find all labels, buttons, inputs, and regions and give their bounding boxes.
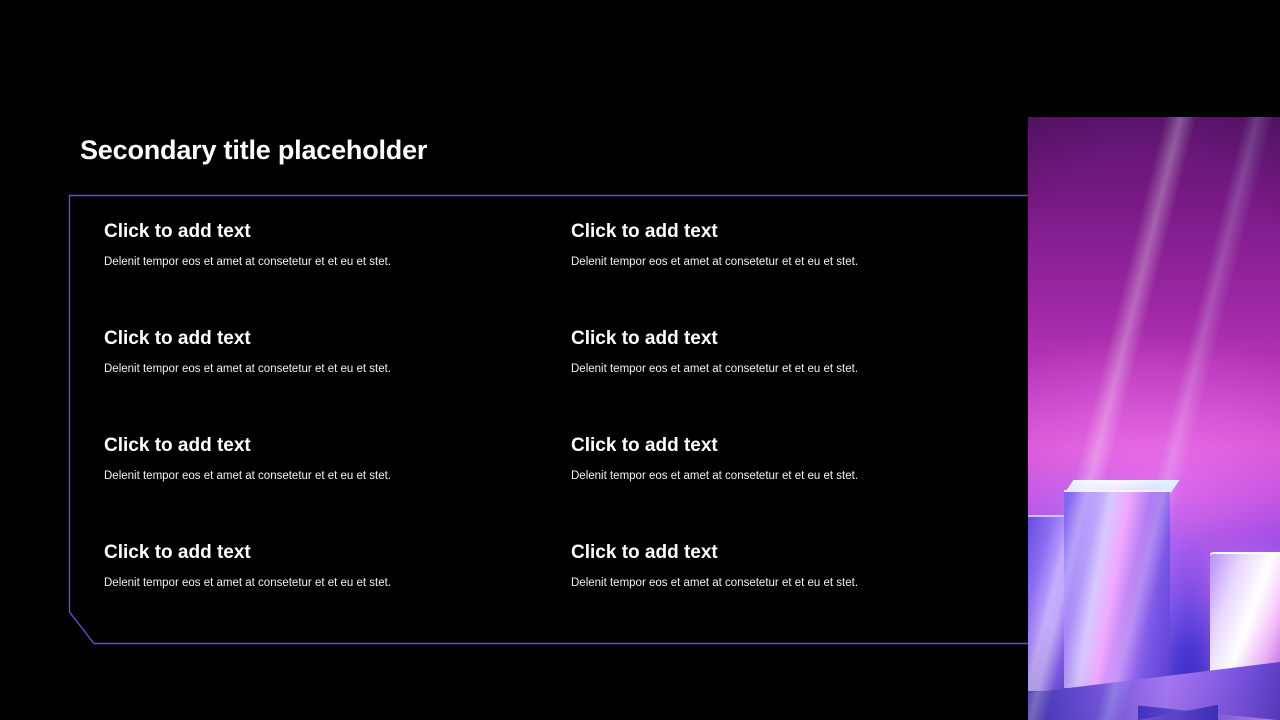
content-cell[interactable]: Click to add text Delenit tempor eos et … — [104, 542, 571, 591]
content-cell[interactable]: Click to add text Delenit tempor eos et … — [104, 221, 571, 328]
page-title: Secondary title placeholder — [80, 136, 427, 166]
cell-heading[interactable]: Click to add text — [571, 221, 934, 243]
content-cell[interactable]: Click to add text Delenit tempor eos et … — [571, 435, 934, 542]
cell-heading[interactable]: Click to add text — [104, 221, 571, 243]
content-cell[interactable]: Click to add text Delenit tempor eos et … — [104, 435, 571, 542]
cell-heading[interactable]: Click to add text — [571, 435, 934, 457]
content-cell[interactable]: Click to add text Delenit tempor eos et … — [571, 221, 934, 328]
content-cell[interactable]: Click to add text Delenit tempor eos et … — [571, 542, 934, 591]
decorative-image-panel — [1028, 117, 1280, 720]
cell-heading[interactable]: Click to add text — [104, 435, 571, 457]
content-cell[interactable]: Click to add text Delenit tempor eos et … — [571, 328, 934, 435]
cell-body[interactable]: Delenit tempor eos et amet at consetetur… — [571, 576, 934, 591]
content-cell-grid: Click to add text Delenit tempor eos et … — [104, 221, 934, 591]
content-cell[interactable]: Click to add text Delenit tempor eos et … — [104, 328, 571, 435]
image-vignette — [1028, 117, 1280, 720]
cell-body[interactable]: Delenit tempor eos et amet at consetetur… — [104, 362, 571, 377]
cell-heading[interactable]: Click to add text — [571, 328, 934, 350]
cell-body[interactable]: Delenit tempor eos et amet at consetetur… — [104, 255, 571, 270]
cell-heading[interactable]: Click to add text — [104, 328, 571, 350]
cell-heading[interactable]: Click to add text — [571, 542, 934, 564]
cell-body[interactable]: Delenit tempor eos et amet at consetetur… — [104, 576, 571, 591]
cell-body[interactable]: Delenit tempor eos et amet at consetetur… — [104, 469, 571, 484]
cell-body[interactable]: Delenit tempor eos et amet at consetetur… — [571, 362, 934, 377]
slide-canvas: Secondary title placeholder Click to add… — [0, 0, 1280, 720]
cell-body[interactable]: Delenit tempor eos et amet at consetetur… — [571, 255, 934, 270]
cell-heading[interactable]: Click to add text — [104, 542, 571, 564]
cell-body[interactable]: Delenit tempor eos et amet at consetetur… — [571, 469, 934, 484]
